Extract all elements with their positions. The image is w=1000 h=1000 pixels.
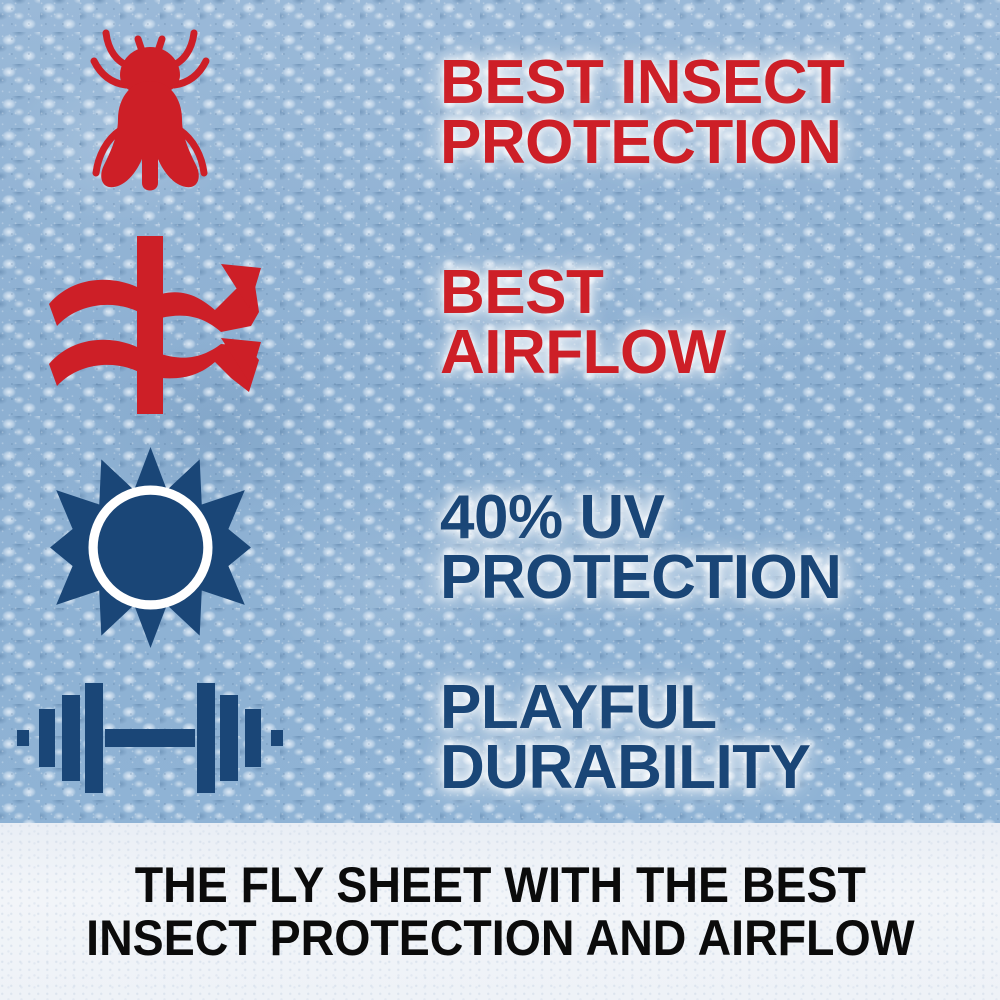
- feature-text-cell-uv-protection: 40% UV PROTECTION: [440, 488, 1000, 607]
- airflow-arrows-icon: [35, 228, 265, 418]
- feature-text-cell-airflow: BEST AIRFLOW: [440, 263, 1000, 382]
- caption-bar: THE FLY SHEET WITH THE BEST INSECT PROTE…: [0, 823, 1000, 1000]
- feature-text-cell-insect-protection: BEST INSECT PROTECTION: [440, 53, 1000, 172]
- product-feature-infographic: BEST INSECT PROTECTION BEST AIRFLOW: [0, 0, 1000, 1000]
- fly-icon: [70, 23, 230, 203]
- feature-icon-durability: [0, 673, 300, 803]
- feature-row-durability: PLAYFUL DURABILITY: [0, 655, 1000, 820]
- feature-row-airflow: BEST AIRFLOW: [0, 228, 1000, 418]
- feature-text-cell-durability: PLAYFUL DURABILITY: [440, 678, 1000, 797]
- feature-icon-uv-protection: [0, 445, 300, 650]
- feature-headline-insect-protection: BEST INSECT PROTECTION: [440, 53, 1000, 172]
- dumbbell-icon: [15, 673, 285, 803]
- feature-headline-airflow: BEST AIRFLOW: [440, 263, 1000, 382]
- caption-text: THE FLY SHEET WITH THE BEST INSECT PROTE…: [86, 859, 914, 965]
- feature-headline-uv-protection: 40% UV PROTECTION: [440, 488, 1000, 607]
- feature-icon-airflow: [0, 228, 300, 418]
- feature-icon-insect-protection: [0, 23, 300, 203]
- feature-headline-durability: PLAYFUL DURABILITY: [440, 678, 1000, 797]
- feature-row-uv-protection: 40% UV PROTECTION: [0, 440, 1000, 655]
- sun-uv-icon: [48, 445, 253, 650]
- feature-row-insect-protection: BEST INSECT PROTECTION: [0, 18, 1000, 208]
